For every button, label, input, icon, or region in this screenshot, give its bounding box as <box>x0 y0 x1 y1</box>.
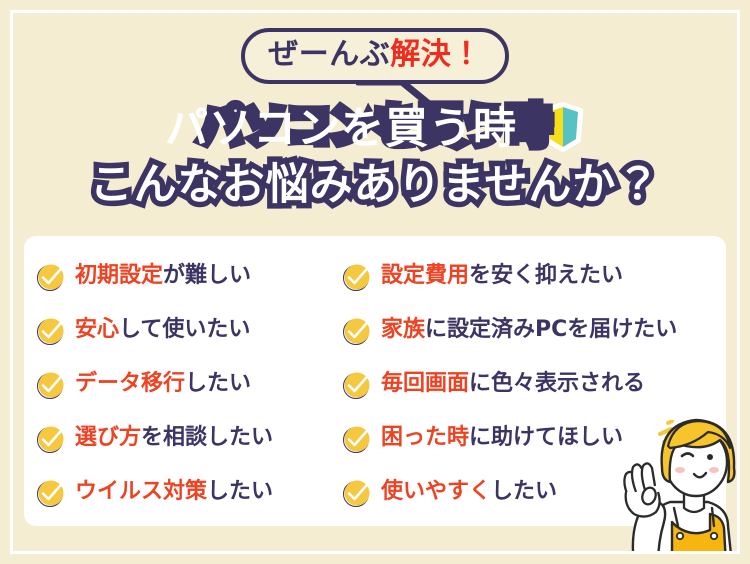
headline: パソコンを買う時 パソコンを買う時 こんなお悩みありませんか？ こんなお悩みあり… <box>0 100 750 212</box>
check-circle-icon <box>36 262 66 292</box>
list-item-rest: を安く抑えたい <box>469 263 623 288</box>
speech-bubble-text: ぜーんぶ解決！ <box>268 40 482 70</box>
list-item-emphasis: 選び方 <box>75 425 141 450</box>
list-item-label: 毎回画面に色々表示される <box>381 373 645 395</box>
speech-bubble: ぜーんぶ解決！ <box>241 28 509 84</box>
list-item-emphasis: 初期設定 <box>75 263 163 288</box>
list-item-emphasis: 毎回画面 <box>381 371 469 396</box>
list-item-emphasis: データ移行 <box>75 371 185 396</box>
list-item-rest: に設定済みPCを届けたい <box>425 317 677 342</box>
check-circle-icon <box>36 370 66 400</box>
list-item-label: 初期設定が難しい <box>75 265 251 287</box>
list-item-emphasis: 家族 <box>381 317 425 342</box>
list-item-label: データ移行したい <box>75 373 251 395</box>
headline-line-2: こんなお悩みありませんか？ こんなお悩みありませんか？ <box>0 158 750 212</box>
list-item-rest: したい <box>185 371 251 396</box>
list-item-label: 困った時に助けてほしい <box>381 427 623 449</box>
list-item-rest: したい <box>207 479 273 504</box>
list-item-rest: を相談したい <box>141 425 273 450</box>
list-item-label: 使いやすくしたい <box>381 481 557 503</box>
list-item-label: 家族に設定済みPCを届けたい <box>381 319 677 341</box>
check-circle-icon <box>342 262 372 292</box>
list-item: 初期設定が難しい <box>36 250 356 304</box>
list-item: 選び方を相談したい <box>36 412 356 466</box>
headline-line-1: パソコンを買う時 パソコンを買う時 <box>0 100 750 156</box>
check-circle-icon <box>36 478 66 508</box>
check-circle-icon <box>342 370 372 400</box>
check-circle-icon <box>36 424 66 454</box>
check-circle-icon <box>36 316 66 346</box>
headline-line-2-fill: こんなお悩みありませんか？ <box>90 160 661 210</box>
list-item-rest: したい <box>491 479 557 504</box>
list-item-emphasis: 安心 <box>75 317 119 342</box>
list-item-label: 安心して使いたい <box>75 319 250 341</box>
headline-line-1-fill: パソコンを買う時 <box>165 104 517 154</box>
speech-bubble-text-normal: ぜーんぶ <box>268 37 390 72</box>
list-item: ウイルス対策したい <box>36 466 356 520</box>
check-circle-icon <box>342 478 372 508</box>
list-item-emphasis: 使いやすく <box>381 479 491 504</box>
checklist-column-left: 初期設定が難しい 安心して使いたい データ移行したい 選び <box>36 250 356 520</box>
list-item-emphasis: 設定費用 <box>381 263 469 288</box>
check-circle-icon <box>342 424 372 454</box>
list-item-rest: が難しい <box>163 263 251 288</box>
list-item: 家族に設定済みPCを届けたい <box>342 304 732 358</box>
list-item-rest: に色々表示される <box>469 371 645 396</box>
list-item-rest: して使いたい <box>119 317 250 342</box>
speech-bubble-text-emphasis: 解決！ <box>390 37 482 72</box>
list-item-emphasis: 困った時 <box>381 425 469 450</box>
list-item: 安心して使いたい <box>36 304 356 358</box>
list-item-label: 設定費用を安く抑えたい <box>381 265 623 287</box>
list-item-label: 選び方を相談したい <box>75 427 273 449</box>
list-item-emphasis: ウイルス対策 <box>75 479 207 504</box>
check-circle-icon <box>342 316 372 346</box>
list-item-label: ウイルス対策したい <box>75 481 273 503</box>
list-item: 設定費用を安く抑えたい <box>342 250 732 304</box>
list-item: データ移行したい <box>36 358 356 412</box>
woman-ok-gesture-icon <box>600 396 750 564</box>
